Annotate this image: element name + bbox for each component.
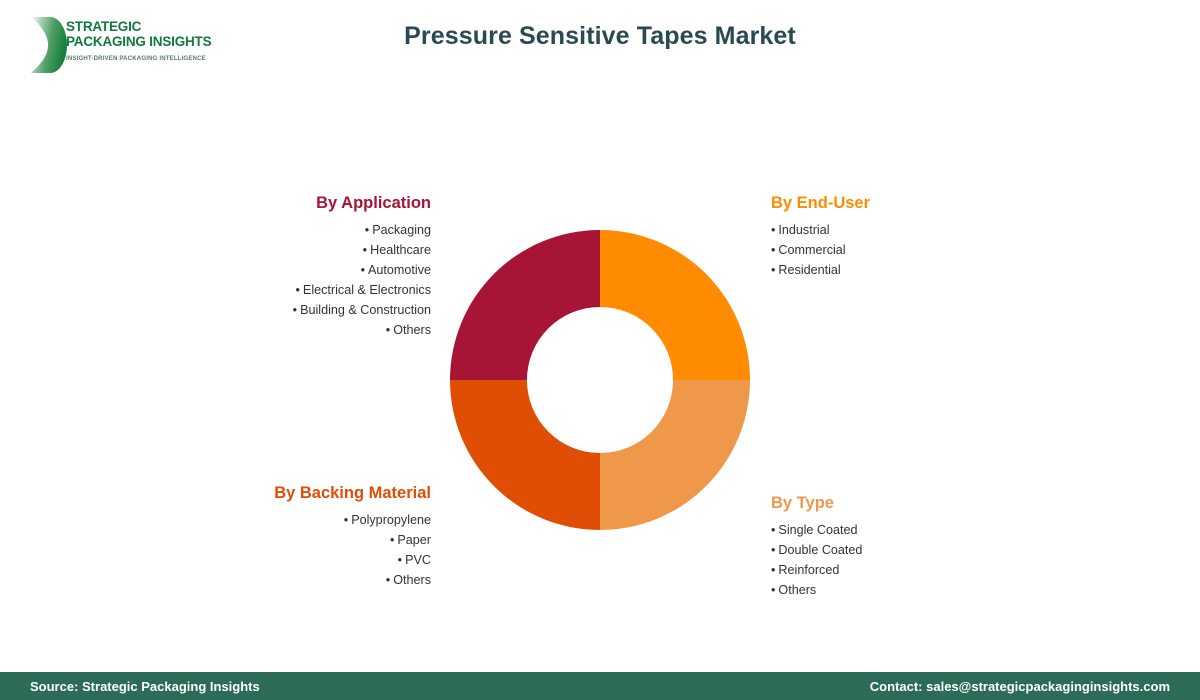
donut-slice-by-application — [450, 230, 600, 380]
segment-list-item: •Polypropylene — [151, 510, 431, 530]
segment-item-label: Polypropylene — [351, 513, 431, 527]
segment-list-item: •PVC — [151, 550, 431, 570]
segment-heading-type: By Type — [771, 493, 1051, 513]
segment-list-item: •Others — [151, 320, 431, 340]
segment-list-item: •Commercial — [771, 240, 1051, 260]
bullet-icon: • — [771, 563, 775, 577]
segment-item-label: Residential — [778, 263, 840, 277]
bullet-icon: • — [771, 523, 775, 537]
segment-list-item: •Healthcare — [151, 240, 431, 260]
bullet-icon: • — [771, 583, 775, 597]
segment-item-label: Others — [778, 583, 816, 597]
segment-item-label: PVC — [405, 553, 431, 567]
bullet-icon: • — [771, 263, 775, 277]
segment-list-backing-material: •Polypropylene•Paper•PVC•Others — [151, 510, 431, 590]
page-title: Pressure Sensitive Tapes Market — [0, 22, 1200, 51]
bullet-icon: • — [344, 513, 348, 527]
segment-item-label: Automotive — [368, 263, 431, 277]
segment-list-application: •Packaging•Healthcare•Automotive•Electri… — [151, 220, 431, 340]
donut-slice-by-end-user — [600, 230, 750, 380]
footer-source-text: Source: Strategic Packaging Insights — [30, 679, 260, 694]
donut-slice-by-type — [600, 380, 750, 530]
segment-block-type: By Type •Single Coated•Double Coated•Rei… — [771, 493, 1051, 600]
segment-item-label: Industrial — [778, 223, 829, 237]
logo-tagline: INSIGHT-DRIVEN PACKAGING INTELLIGENCE — [66, 55, 211, 62]
segment-list-item: •Others — [151, 570, 431, 590]
segment-item-label: Others — [393, 323, 431, 337]
footer-contact-email[interactable]: Contact: sales@strategicpackaginginsight… — [870, 679, 1170, 694]
bullet-icon: • — [365, 223, 369, 237]
segment-block-application: By Application •Packaging•Healthcare•Aut… — [151, 193, 431, 340]
segment-item-label: Double Coated — [778, 543, 862, 557]
segment-heading-enduser: By End-User — [771, 193, 1051, 213]
bullet-icon: • — [296, 283, 300, 297]
bullet-icon: • — [363, 243, 367, 257]
segment-list-item: •Residential — [771, 260, 1051, 280]
bullet-icon: • — [771, 543, 775, 557]
segment-item-label: Building & Construction — [300, 303, 431, 317]
bullet-icon: • — [386, 323, 390, 337]
segment-list-item: •Electrical & Electronics — [151, 280, 431, 300]
segment-list-item: •Industrial — [771, 220, 1051, 240]
segment-list-item: •Double Coated — [771, 540, 1051, 560]
donut-slice-by-backing-material — [450, 380, 600, 530]
infographic-canvas: STRATEGIC PACKAGING INSIGHTS INSIGHT-DRI… — [0, 0, 1200, 700]
footer-bar: Source: Strategic Packaging Insights Con… — [0, 672, 1200, 700]
bullet-icon: • — [771, 243, 775, 257]
segment-list-item: •Paper — [151, 530, 431, 550]
segment-item-label: Paper — [397, 533, 431, 547]
segment-list-item: •Building & Construction — [151, 300, 431, 320]
segment-item-label: Healthcare — [370, 243, 431, 257]
segment-list-type: •Single Coated•Double Coated•Reinforced•… — [771, 520, 1051, 600]
bullet-icon: • — [398, 553, 402, 567]
segment-item-label: Others — [393, 573, 431, 587]
segment-item-label: Commercial — [778, 243, 845, 257]
bullet-icon: • — [771, 223, 775, 237]
segment-block-enduser: By End-User •Industrial•Commercial•Resid… — [771, 193, 1051, 280]
segment-list-item: •Others — [771, 580, 1051, 600]
segment-block-backing-material: By Backing Material •Polypropylene•Paper… — [151, 483, 431, 590]
segment-item-label: Electrical & Electronics — [303, 283, 431, 297]
segment-heading-backing-material: By Backing Material — [151, 483, 431, 503]
segment-item-label: Packaging — [372, 223, 431, 237]
segment-list-item: •Automotive — [151, 260, 431, 280]
bullet-icon: • — [390, 533, 394, 547]
bullet-icon: • — [361, 263, 365, 277]
segment-list-item: •Single Coated — [771, 520, 1051, 540]
donut-chart — [450, 230, 750, 530]
segment-heading-application: By Application — [151, 193, 431, 213]
bullet-icon: • — [293, 303, 297, 317]
bullet-icon: • — [386, 573, 390, 587]
segment-list-item: •Reinforced — [771, 560, 1051, 580]
segment-item-label: Single Coated — [778, 523, 857, 537]
segment-list-item: •Packaging — [151, 220, 431, 240]
segment-item-label: Reinforced — [778, 563, 839, 577]
segment-list-enduser: •Industrial•Commercial•Residential — [771, 220, 1051, 280]
